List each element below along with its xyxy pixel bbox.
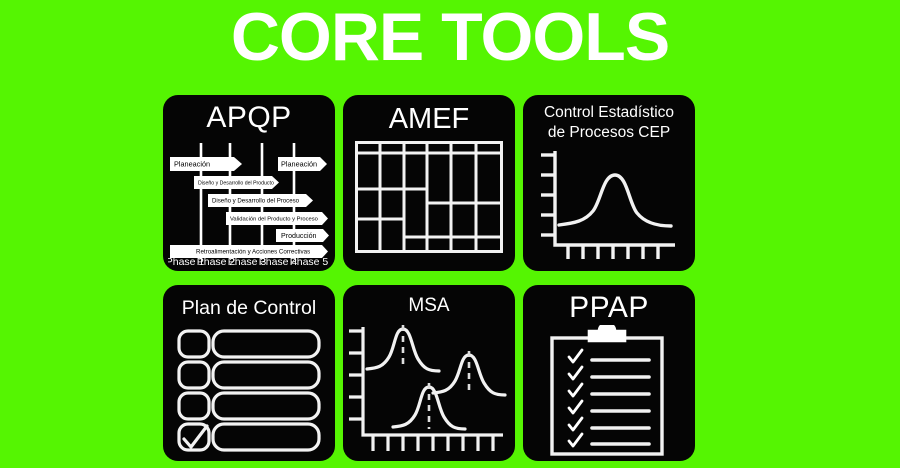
svg-text:Diseño y Desarrollo del Produc: Diseño y Desarrollo del Producto bbox=[198, 180, 274, 186]
svg-text:Diseño y Desarrollo del Proces: Diseño y Desarrollo del Proceso bbox=[212, 198, 300, 205]
tile-apqp-title: APQP bbox=[163, 101, 335, 135]
svg-text:Validación del Producto y Proc: Validación del Producto y Proceso bbox=[230, 217, 318, 223]
tile-cep-title: Control Estadístico de Procesos CEP bbox=[523, 103, 695, 143]
form-rows-icon bbox=[177, 329, 323, 455]
tile-cep[interactable]: Control Estadístico de Procesos CEP bbox=[523, 95, 695, 271]
tile-ppap[interactable]: PPAP bbox=[523, 285, 695, 461]
core-tools-tile-grid: APQP Planeación Planeación Diseño y D bbox=[163, 95, 694, 461]
svg-text:Planeación: Planeación bbox=[174, 159, 210, 168]
tile-msa[interactable]: MSA bbox=[343, 285, 515, 461]
tile-amef[interactable]: AMEF bbox=[343, 95, 515, 271]
svg-text:Planeación: Planeación bbox=[281, 159, 317, 168]
tile-apqp[interactable]: APQP Planeación Planeación Diseño y D bbox=[163, 95, 335, 271]
tile-ppap-title: PPAP bbox=[523, 291, 695, 325]
three-bell-curves-icon bbox=[345, 321, 513, 457]
page-title: CORE TOOLS bbox=[0, 2, 900, 73]
clipboard-checklist-icon bbox=[549, 325, 671, 457]
bell-curve-chart-icon bbox=[535, 149, 685, 265]
apqp-phase-diagram-icon: Planeación Planeación Diseño y Desarroll… bbox=[168, 141, 330, 267]
table-grid-icon bbox=[355, 141, 503, 253]
tile-amef-title: AMEF bbox=[343, 103, 515, 136]
apqp-phase-label-5: Phase 5 bbox=[290, 256, 329, 267]
tile-plan-de-control[interactable]: Plan de Control bbox=[163, 285, 335, 461]
tile-plan-de-control-title: Plan de Control bbox=[163, 297, 335, 320]
tile-msa-title: MSA bbox=[343, 295, 515, 317]
svg-text:Retroalimentación y Acciones C: Retroalimentación y Acciones Correctivas bbox=[196, 249, 310, 256]
svg-text:Producción: Producción bbox=[281, 232, 317, 240]
